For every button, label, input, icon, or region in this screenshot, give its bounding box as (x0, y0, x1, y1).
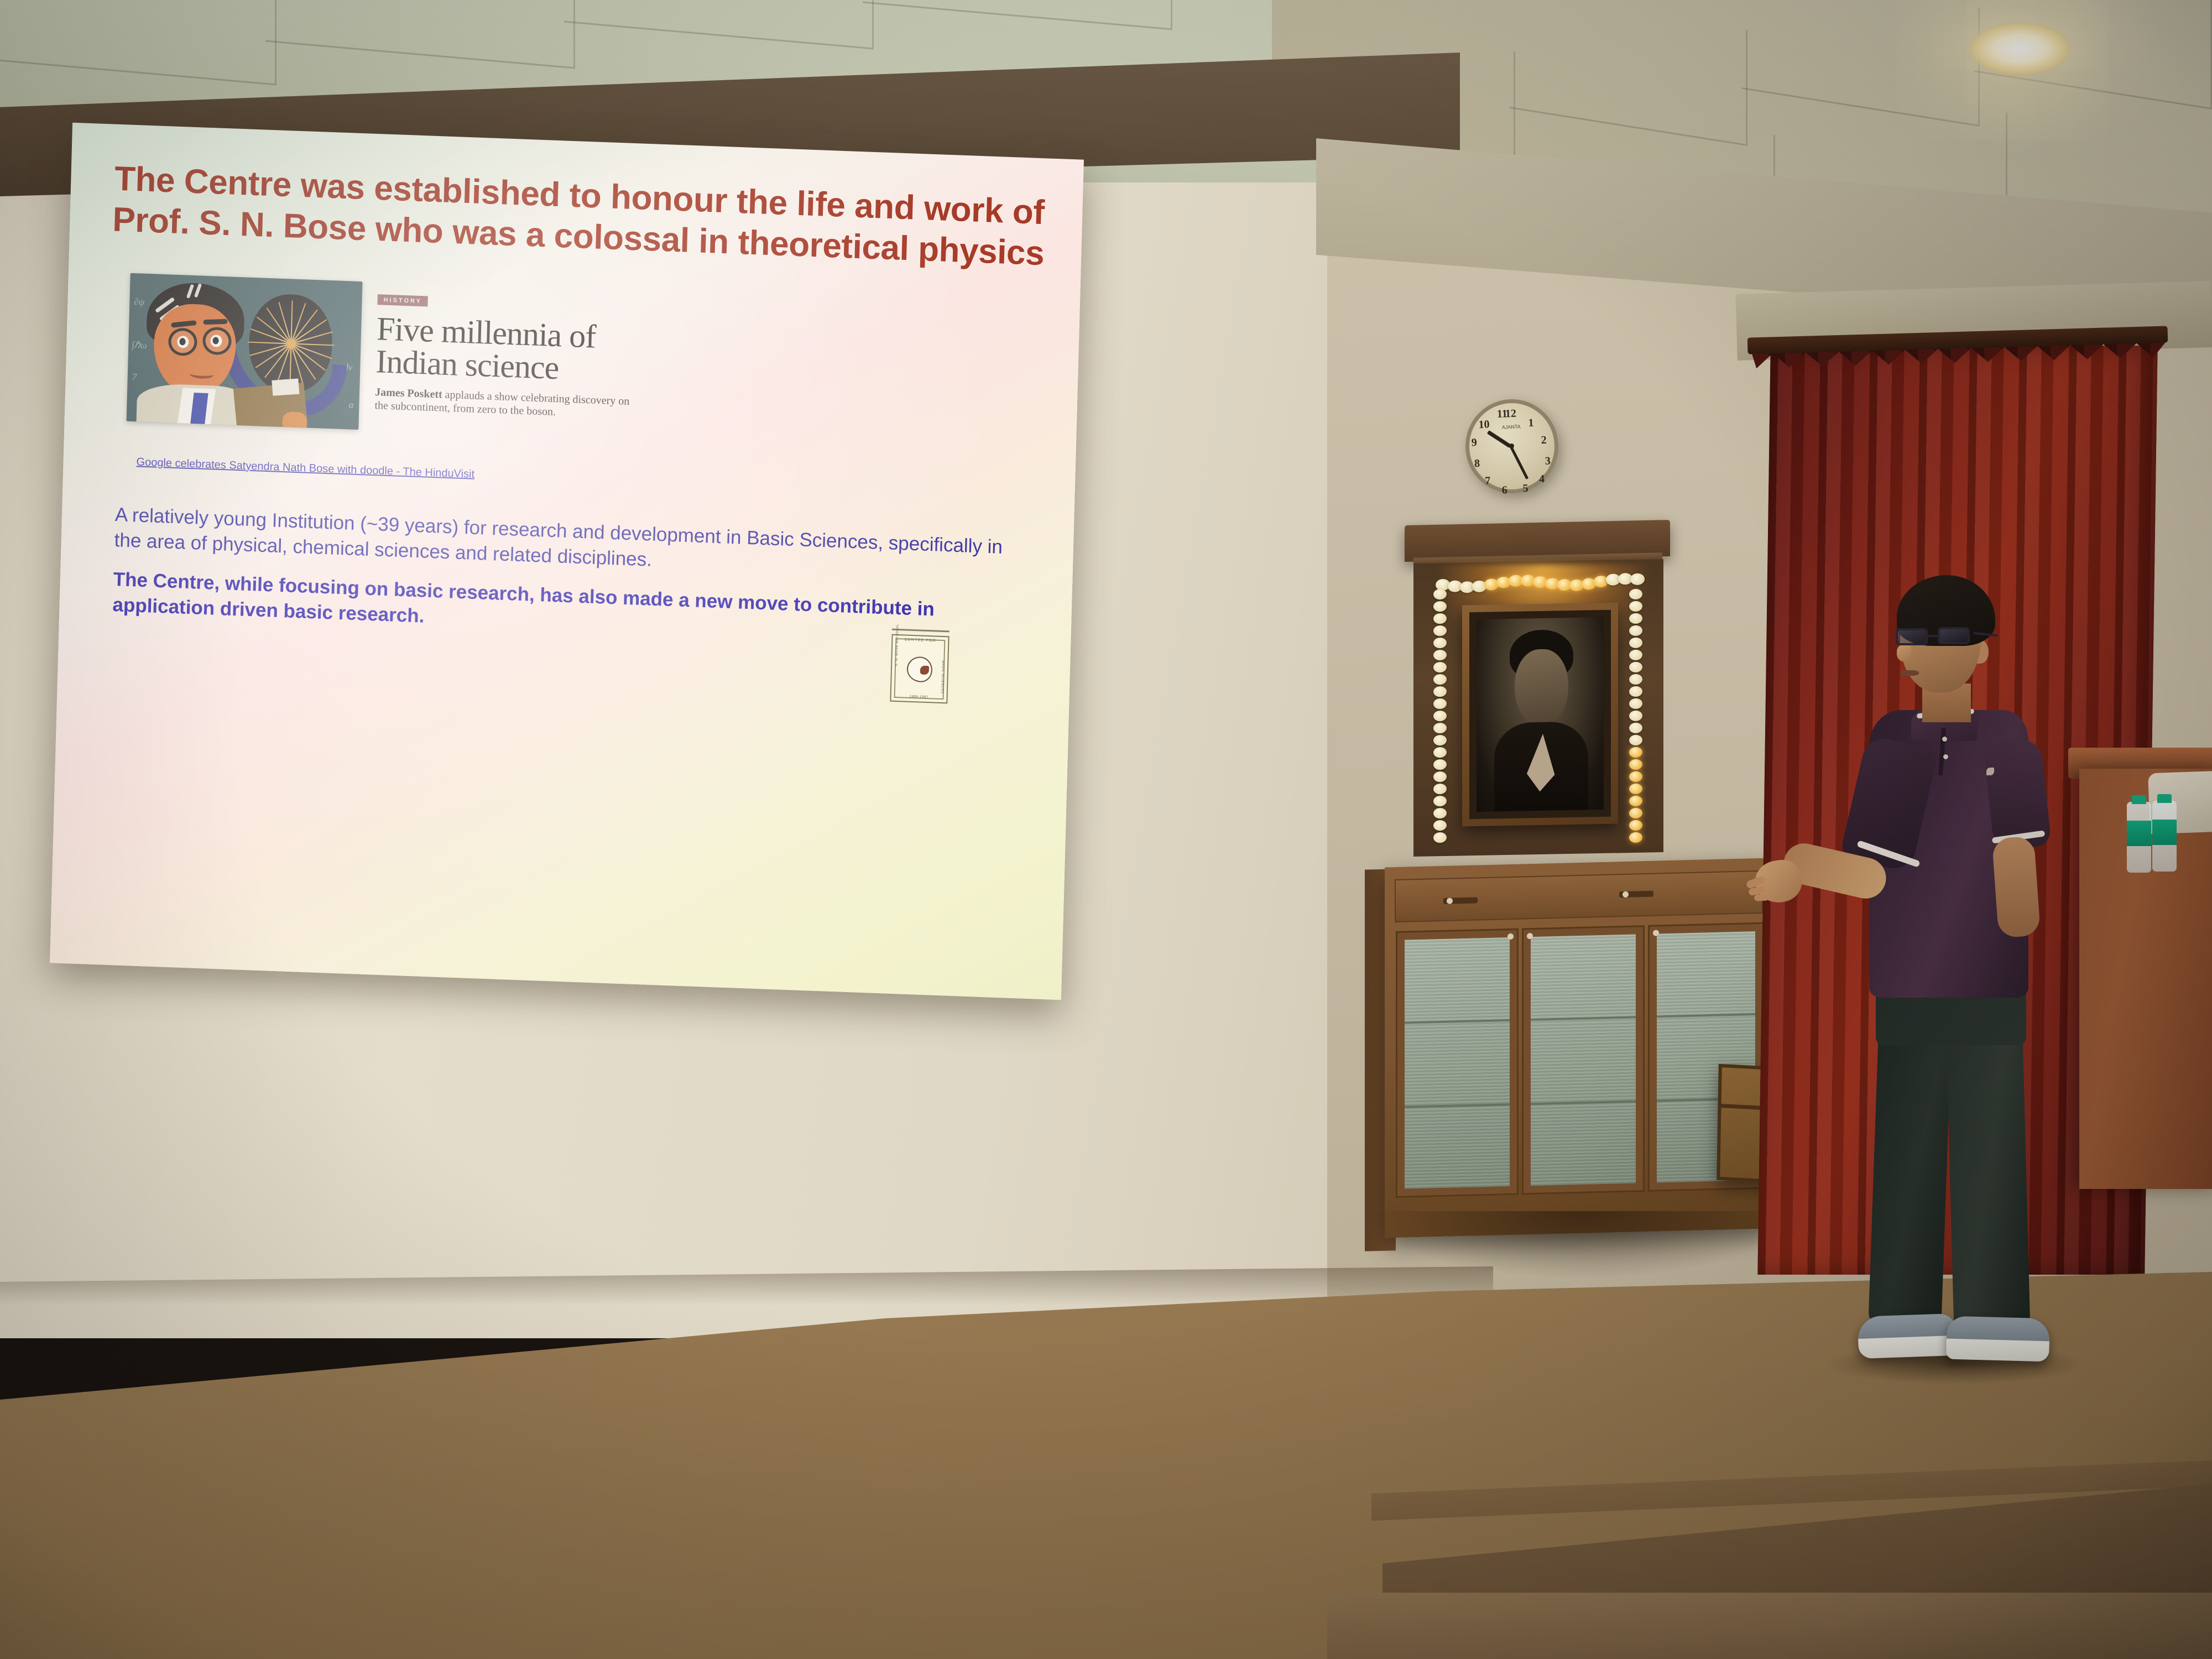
clock-numeral-4: 4 (1539, 473, 1545, 486)
water-bottle-2 (2152, 801, 2177, 872)
bose-doodle-image: ∂ψ ∫ℏω 7 dν α (127, 273, 363, 430)
garland-flower (1629, 625, 1642, 637)
garland-flower (1629, 771, 1642, 782)
portrait-frame (1462, 603, 1618, 827)
presenter-mouth (1900, 670, 1919, 676)
slide-title: The Centre was established to honour the… (108, 158, 1050, 275)
bose-portrait-image (1477, 617, 1604, 812)
magazine-category-tag: HISTORY (377, 294, 428, 306)
garland-flower (1629, 711, 1642, 722)
garland-flower (1433, 601, 1447, 612)
cabinet-glass-left (1405, 937, 1510, 1189)
garland-flower (1433, 747, 1447, 758)
garland-flower (1629, 650, 1642, 661)
garland-flower (1433, 613, 1447, 624)
projection-screen: The Centre was established to honour the… (50, 123, 1084, 1000)
garland-flower (1629, 735, 1642, 746)
presentation-slide: The Centre was established to honour the… (50, 123, 1084, 1000)
garland-flower (1629, 820, 1642, 831)
garland-flower (1433, 759, 1447, 770)
clock-numeral-1: 1 (1528, 417, 1534, 430)
magazine-clipping: HISTORY Five millennia of Indian science… (374, 294, 637, 422)
doodle-source-link[interactable]: Google celebrates Satyendra Nath Bose wi… (136, 456, 474, 481)
garland-flower (1629, 589, 1642, 600)
garland-flower (1629, 686, 1642, 697)
water-bottle-1 (2127, 802, 2151, 873)
garland-flower (1433, 662, 1447, 673)
garland-flower (1629, 613, 1642, 624)
cabinet-drawer[interactable] (1395, 870, 1763, 922)
garland-flower (1433, 711, 1447, 722)
garland-flower (1629, 808, 1642, 819)
garland-flower (1433, 686, 1447, 697)
presenter-leg-left (1868, 1016, 1952, 1328)
garland-flower (1629, 796, 1642, 807)
garland-flower (1629, 723, 1642, 734)
garland-flower (1433, 820, 1447, 831)
garland-flower (1629, 784, 1642, 795)
clock-numeral-7: 7 (1485, 474, 1491, 487)
garland-flower (1433, 784, 1447, 795)
garland-flower (1629, 698, 1642, 709)
garland-flower (1433, 735, 1447, 746)
clock-numeral-6: 6 (1501, 484, 1507, 497)
clock-center-pin (1509, 444, 1514, 448)
centre-logo: CENTRE FOR S. N. BOSE NATIONAL BASIC SCI… (890, 634, 949, 704)
garland-flower (1433, 589, 1447, 600)
presenter-leg-right (1946, 1014, 2031, 1331)
garland-flower (1629, 747, 1642, 758)
garland-flower (1433, 771, 1447, 782)
clock-numeral-11: 11 (1497, 408, 1508, 421)
clock-numeral-10: 10 (1478, 418, 1490, 431)
garland-flower (1433, 674, 1447, 685)
presenter-shoe-left (1858, 1313, 1958, 1359)
presenter (1792, 575, 2079, 1360)
garland-flower (1433, 808, 1447, 819)
garland-flower (1629, 638, 1642, 649)
clock-numeral-2: 2 (1541, 434, 1547, 447)
garland-flower (1433, 638, 1447, 649)
magazine-author: James Poskett (375, 386, 442, 400)
clock-numeral-3: 3 (1545, 455, 1551, 468)
ceiling-downlight-icon (1969, 22, 2071, 75)
garland-flower (1433, 650, 1447, 661)
clock-numeral-5: 5 (1522, 482, 1528, 495)
presenter-shirt-logo (1986, 768, 1994, 775)
garland-flower (1433, 723, 1447, 734)
cabinet-glass-middle (1531, 934, 1636, 1186)
lower-floor (1327, 1593, 2212, 1659)
garland-flower (1629, 662, 1642, 673)
presenter-arm-right (1992, 836, 2041, 938)
cabinet-door-middle[interactable] (1522, 925, 1645, 1194)
garland-flower (1433, 698, 1447, 709)
logo-right-text: BASIC SCIENCES (938, 637, 947, 702)
garland-flower (1629, 601, 1642, 612)
magazine-dek: James Poskett applauds a show celebratin… (374, 385, 635, 422)
presenter-nose (1897, 645, 1911, 661)
auditorium-scene: The Centre was established to honour the… (0, 0, 2212, 1659)
display-cabinet[interactable] (1385, 858, 1772, 1238)
garland-flower (1433, 625, 1447, 637)
cabinet-door-left[interactable] (1396, 928, 1519, 1198)
clock-numeral-8: 8 (1474, 457, 1480, 470)
garland-flower (1629, 759, 1642, 770)
garland-flower (1629, 674, 1642, 685)
presenter-glasses-icon (1896, 628, 1979, 647)
presenter-shoe-right (1946, 1316, 2050, 1362)
clock-minute-hand (1510, 446, 1528, 479)
magazine-headline: Five millennia of Indian science (375, 312, 637, 387)
clock-hour-hand (1487, 430, 1511, 448)
garland-flower (1433, 796, 1447, 807)
clock-numeral-9: 9 (1471, 436, 1477, 449)
